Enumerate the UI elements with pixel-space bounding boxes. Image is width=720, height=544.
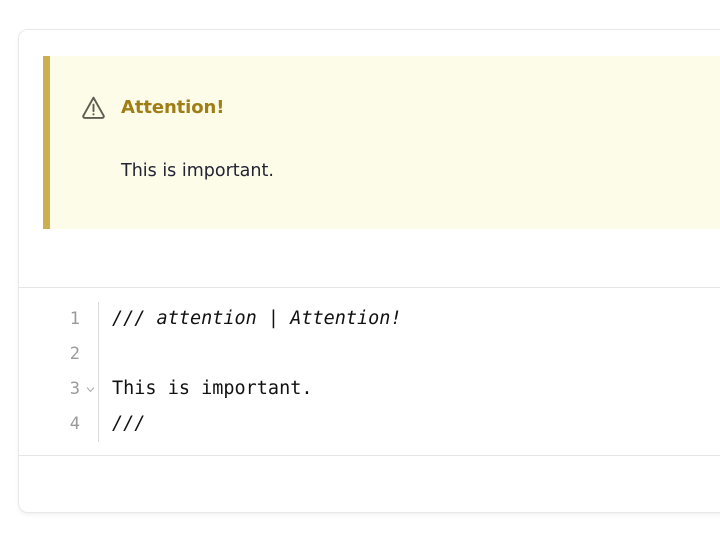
line-gutter: 4 xyxy=(19,407,82,442)
code-line: 4 /// xyxy=(19,407,720,442)
line-number: 4 xyxy=(70,416,80,433)
admonition-title-text: Attention! xyxy=(121,99,224,117)
fold-marker-placeholder xyxy=(82,302,98,337)
line-number: 2 xyxy=(70,346,80,363)
fold-marker-placeholder xyxy=(82,407,98,442)
card-footer xyxy=(19,457,720,513)
warning-triangle-icon xyxy=(80,94,107,121)
line-number: 1 xyxy=(70,311,80,328)
line-number: 3 xyxy=(70,381,80,398)
code-line: 2 xyxy=(19,337,720,372)
line-gutter: 3 xyxy=(19,372,82,407)
page-root: Attention! This is important. 1 /// atte… xyxy=(0,0,720,544)
admonition-accent-bar xyxy=(43,56,50,229)
code-line: 1 /// attention | Attention! xyxy=(19,302,720,337)
admonition-title-row: Attention! xyxy=(80,94,224,121)
code-pane[interactable]: 1 /// attention | Attention! 2 xyxy=(19,288,720,456)
preview-pane: Attention! This is important. xyxy=(19,30,720,288)
chevron-down-icon[interactable] xyxy=(82,372,98,407)
gutter-divider xyxy=(98,337,99,372)
code-line: 3 This is important. xyxy=(19,372,720,407)
line-gutter: 1 xyxy=(19,302,82,337)
code-line-text[interactable]: This is important. xyxy=(99,380,312,399)
code-line-text[interactable]: /// attention | Attention! xyxy=(99,310,402,329)
code-line-text[interactable]: /// xyxy=(99,415,145,434)
line-gutter: 2 xyxy=(19,337,82,372)
code-lines: 1 /// attention | Attention! 2 xyxy=(19,302,720,442)
admonition-body-text: This is important. xyxy=(121,160,274,183)
example-card: Attention! This is important. 1 /// atte… xyxy=(18,29,720,513)
fold-marker-placeholder xyxy=(82,337,98,372)
admonition-attention: Attention! This is important. xyxy=(43,56,720,229)
